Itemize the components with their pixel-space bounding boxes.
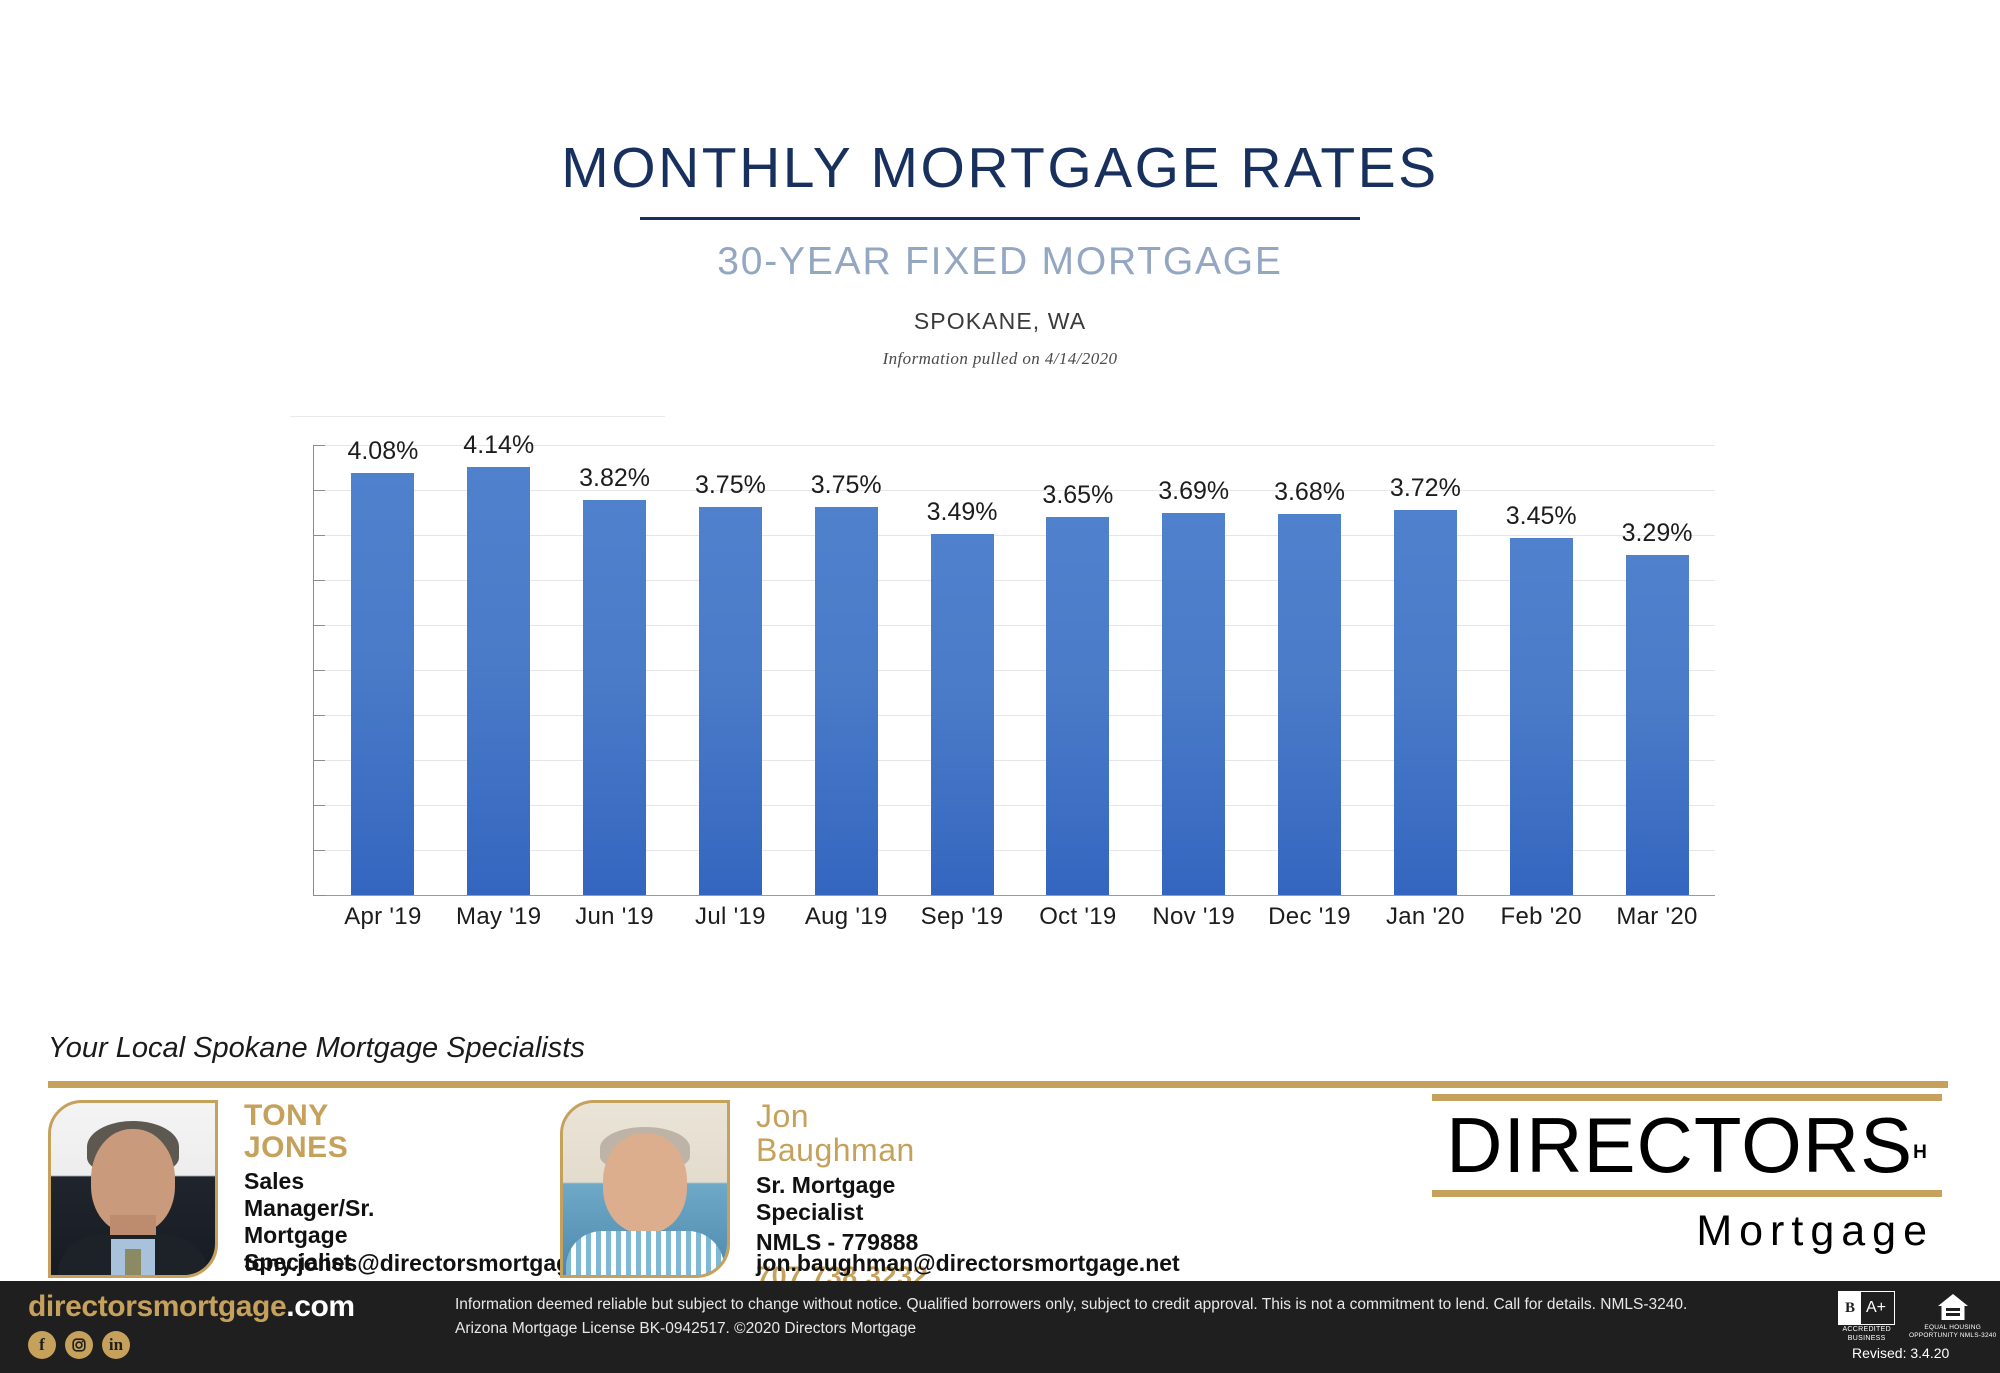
bbb-icon: B A+ (1838, 1291, 1895, 1325)
bar[interactable]: 3.68% (1278, 514, 1341, 895)
logo-bottom-bar (1432, 1190, 1942, 1197)
disclaimer-line-1: Information deemed reliable but subject … (455, 1293, 1785, 1317)
tie-shape (125, 1249, 141, 1278)
top-partial-gridline (290, 416, 665, 417)
bar-value-label: 4.08% (347, 437, 418, 466)
avatar (560, 1100, 730, 1278)
axis-baseline (325, 895, 1715, 896)
portrait-photo (563, 1103, 727, 1275)
equal-housing-caption: EQUAL HOUSING OPPORTUNITY NMLS-3240 (1905, 1324, 2000, 1341)
bar-group: 3.82% (557, 445, 673, 895)
bar-group: 3.65% (1020, 445, 1136, 895)
specialist-name: Jon Baughman (756, 1100, 928, 1167)
mortgage-rate-bar-chart: 4.08%4.14%3.82%3.75%3.75%3.49%3.65%3.69%… (325, 445, 1715, 950)
bar-group: 3.72% (1367, 445, 1483, 895)
y-axis-tick (313, 490, 325, 491)
bar-value-label: 3.72% (1390, 474, 1461, 503)
specialist-card-tony-jones: TONY JONES Sales Manager/Sr. Mortgage Sp… (48, 1100, 218, 1278)
bar-value-label: 3.49% (927, 498, 998, 527)
y-axis-tick (313, 850, 325, 851)
linkedin-icon[interactable]: in (102, 1331, 130, 1359)
bar[interactable]: 3.69% (1162, 513, 1225, 895)
website-link[interactable]: directorsmortgage.com (28, 1290, 355, 1324)
equal-housing-icon (1935, 1291, 1971, 1323)
bar-value-label: 3.82% (579, 464, 650, 493)
x-axis-label: Dec '19 (1252, 903, 1368, 931)
bar-group: 4.14% (441, 445, 557, 895)
y-axis-tick (313, 535, 325, 536)
x-axis-label: May '19 (441, 903, 557, 931)
specialist-email[interactable]: jon.baughman@directorsmortgage.net (756, 1250, 1180, 1277)
bar-value-label: 3.69% (1158, 477, 1229, 506)
disclaimer-line-2: Arizona Mortgage License BK-0942517. ©20… (455, 1317, 1785, 1341)
bar-value-label: 3.75% (695, 471, 766, 500)
gold-divider (48, 1081, 1948, 1088)
footer-badges: B A+ ACCREDITED BUSINESS EQUAL HOUSING O… (1838, 1291, 2000, 1344)
facebook-icon[interactable]: f (28, 1331, 56, 1359)
bbb-caption: ACCREDITED BUSINESS (1838, 1326, 1895, 1344)
equal-housing-badge: EQUAL HOUSING OPPORTUNITY NMLS-3240 (1905, 1291, 2000, 1341)
x-axis-labels: Apr '19May '19Jun '19Jul '19Aug '19Sep '… (325, 903, 1715, 931)
bar-group: 3.49% (904, 445, 1020, 895)
social-links: f in (28, 1331, 130, 1359)
x-axis-label: Sep '19 (904, 903, 1020, 931)
mortgage-rates-flyer: MONTHLY MORTGAGE RATES 30-YEAR FIXED MOR… (0, 0, 2000, 1373)
instagram-icon[interactable] (65, 1331, 93, 1359)
y-axis-tick (313, 580, 325, 581)
logo-top-bar (1432, 1094, 1942, 1101)
bar[interactable]: 4.08% (351, 473, 414, 895)
bar-value-label: 3.29% (1622, 519, 1693, 548)
shirt-shape (566, 1231, 724, 1278)
y-axis-tick (313, 625, 325, 626)
x-axis-label: Nov '19 (1136, 903, 1252, 931)
bar-group: 4.08% (325, 445, 441, 895)
logo-word-text: DIRECTORS (1446, 1101, 1913, 1189)
x-axis-label: Jan '20 (1367, 903, 1483, 931)
x-axis-label: Mar '20 (1599, 903, 1715, 931)
bar-group: 3.29% (1599, 445, 1715, 895)
bar[interactable]: 3.49% (931, 534, 994, 895)
x-axis-label: Aug '19 (788, 903, 904, 931)
bar-group: 3.69% (1136, 445, 1252, 895)
avatar (48, 1100, 218, 1278)
bar-value-label: 3.45% (1506, 502, 1577, 531)
chart-plot-area: 4.08%4.14%3.82%3.75%3.75%3.49%3.65%3.69%… (325, 445, 1715, 895)
bar[interactable]: 3.65% (1046, 517, 1109, 895)
bar[interactable]: 3.29% (1626, 555, 1689, 895)
bar-value-label: 3.75% (811, 471, 882, 500)
bar[interactable]: 4.14% (467, 467, 530, 895)
bar-value-label: 3.68% (1274, 478, 1345, 507)
website-name: directorsmortgage (28, 1290, 286, 1323)
x-axis-label: Jul '19 (672, 903, 788, 931)
bar-group: 3.75% (788, 445, 904, 895)
bar-group: 3.45% (1483, 445, 1599, 895)
revised-date: Revised: 3.4.20 (1852, 1345, 1949, 1361)
x-axis-label: Apr '19 (325, 903, 441, 931)
x-axis-label: Feb '20 (1483, 903, 1599, 931)
bar[interactable]: 3.72% (1394, 510, 1457, 895)
footer-bar: directorsmortgage.com f in Information d… (0, 1281, 2000, 1373)
bar[interactable]: 3.45% (1510, 538, 1573, 895)
y-axis-tick (313, 715, 325, 716)
bbb-accredited-badge: B A+ ACCREDITED BUSINESS (1838, 1291, 1895, 1344)
header: MONTHLY MORTGAGE RATES 30-YEAR FIXED MOR… (0, 0, 2000, 369)
bar[interactable]: 3.75% (815, 507, 878, 895)
x-axis-label: Jun '19 (557, 903, 673, 931)
y-axis-tick (313, 895, 325, 896)
logo-wordmark: DIRECTORSH (1432, 1101, 1942, 1190)
bar-value-label: 4.14% (463, 431, 534, 460)
y-axis-tick (313, 445, 325, 446)
bar-group: 3.68% (1252, 445, 1368, 895)
bar-series: 4.08%4.14%3.82%3.75%3.75%3.49%3.65%3.69%… (325, 445, 1715, 895)
specialist-name: TONY JONES (244, 1100, 416, 1163)
y-axis-tick (313, 805, 325, 806)
logo-tagline: Mortgage (1432, 1207, 1942, 1256)
website-tld: .com (286, 1290, 354, 1323)
market-city: SPOKANE, WA (0, 308, 2000, 335)
head-shape (603, 1133, 687, 1233)
directors-mortgage-logo: DIRECTORSH Mortgage (1432, 1094, 1942, 1256)
page-subtitle: 30-YEAR FIXED MORTGAGE (0, 242, 2000, 281)
page-title: MONTHLY MORTGAGE RATES (0, 140, 2000, 197)
bbb-rating: A+ (1861, 1292, 1891, 1324)
footer-disclaimer: Information deemed reliable but subject … (455, 1293, 1785, 1341)
bar[interactable]: 3.82% (583, 500, 646, 895)
title-underline (640, 217, 1360, 220)
bar-value-label: 3.65% (1042, 481, 1113, 510)
bbb-mark: B (1839, 1292, 1861, 1324)
specialists-heading: Your Local Spokane Mortgage Specialists (48, 1032, 585, 1065)
y-axis-tick (313, 760, 325, 761)
portrait-photo (51, 1103, 215, 1275)
data-pulled-date: Information pulled on 4/14/2020 (0, 349, 2000, 369)
bar-group: 3.75% (672, 445, 788, 895)
logo-superscript: H (1913, 1142, 1928, 1163)
specialist-card-jon-baughman: Jon Baughman Sr. Mortgage Specialist NML… (560, 1100, 730, 1278)
bar[interactable]: 3.75% (699, 507, 762, 895)
y-axis-tick (313, 670, 325, 671)
x-axis-label: Oct '19 (1020, 903, 1136, 931)
specialist-role: Sr. Mortgage Specialist (756, 1172, 928, 1226)
